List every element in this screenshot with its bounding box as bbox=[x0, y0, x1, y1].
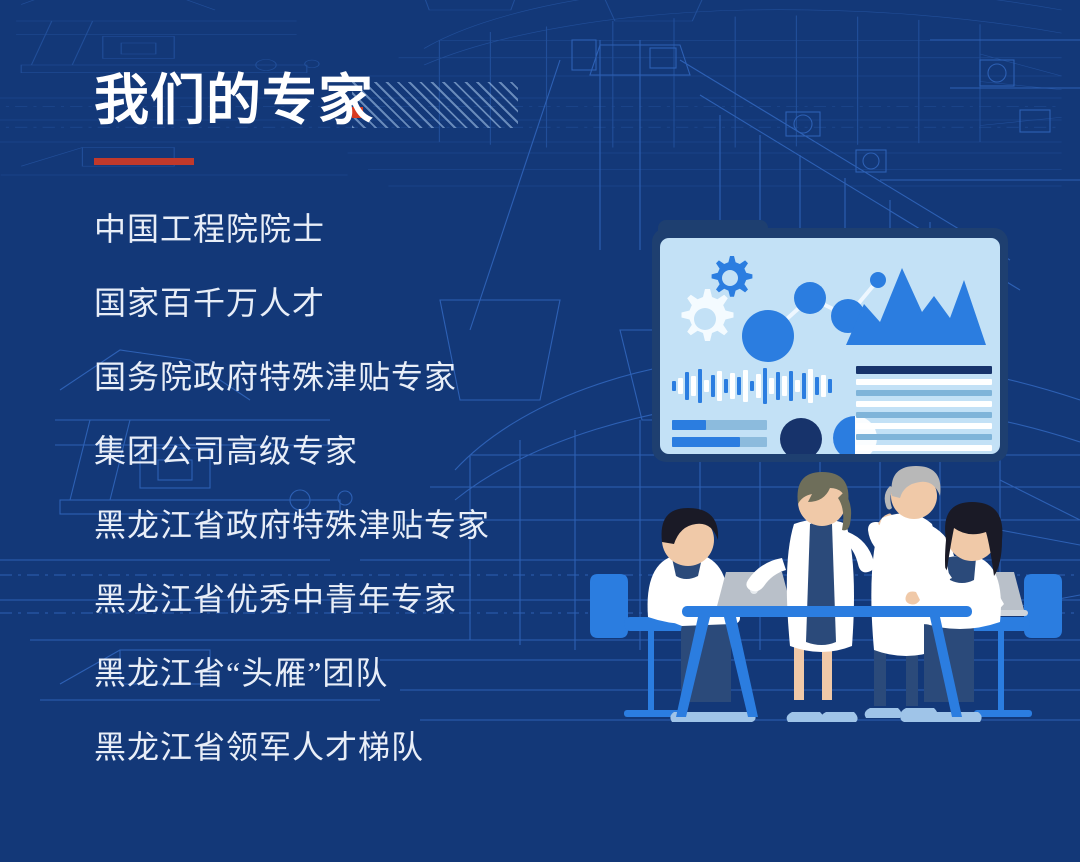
list-item: 黑龙江省优秀中青年专家 bbox=[94, 562, 654, 636]
list-item: 集团公司高级专家 bbox=[94, 414, 654, 488]
list-item: 国务院政府特殊津贴专家 bbox=[94, 340, 654, 414]
list-item: 黑龙江省政府特殊津贴专家 bbox=[94, 488, 654, 562]
expert-credentials-list: 中国工程院院士 国家百千万人才 国务院政府特殊津贴专家 集团公司高级专家 黑龙江… bbox=[94, 192, 654, 784]
card-face bbox=[660, 238, 1000, 454]
hatch-band-decoration bbox=[352, 82, 518, 128]
card-folder-tab bbox=[658, 220, 768, 240]
team-meeting-illustration bbox=[586, 462, 1066, 752]
list-item: 黑龙江省领军人才梯队 bbox=[94, 710, 654, 784]
list-item: 国家百千万人才 bbox=[94, 266, 654, 340]
page-title: 我们的专家 bbox=[94, 70, 374, 130]
poster-canvas: 我们的专家 中国工程院院士 国家百千万人才 国务院政府特殊津贴专家 集团公司高级… bbox=[0, 0, 1080, 862]
gear-large-icon bbox=[672, 286, 738, 352]
analytics-dashboard-card bbox=[652, 228, 1008, 462]
list-item: 中国工程院院士 bbox=[94, 192, 654, 266]
text-line-placeholder-group bbox=[856, 366, 992, 454]
progress-bar bbox=[672, 420, 767, 430]
mountain-area-chart bbox=[846, 260, 986, 345]
list-item: 黑龙江省“头雁”团队 bbox=[94, 636, 654, 710]
progress-bar bbox=[672, 437, 767, 447]
progress-bar-group bbox=[672, 420, 767, 454]
waveform-bar-chart bbox=[672, 366, 832, 406]
solid-dark-circle-chart bbox=[780, 418, 822, 454]
title-underline bbox=[94, 158, 194, 165]
